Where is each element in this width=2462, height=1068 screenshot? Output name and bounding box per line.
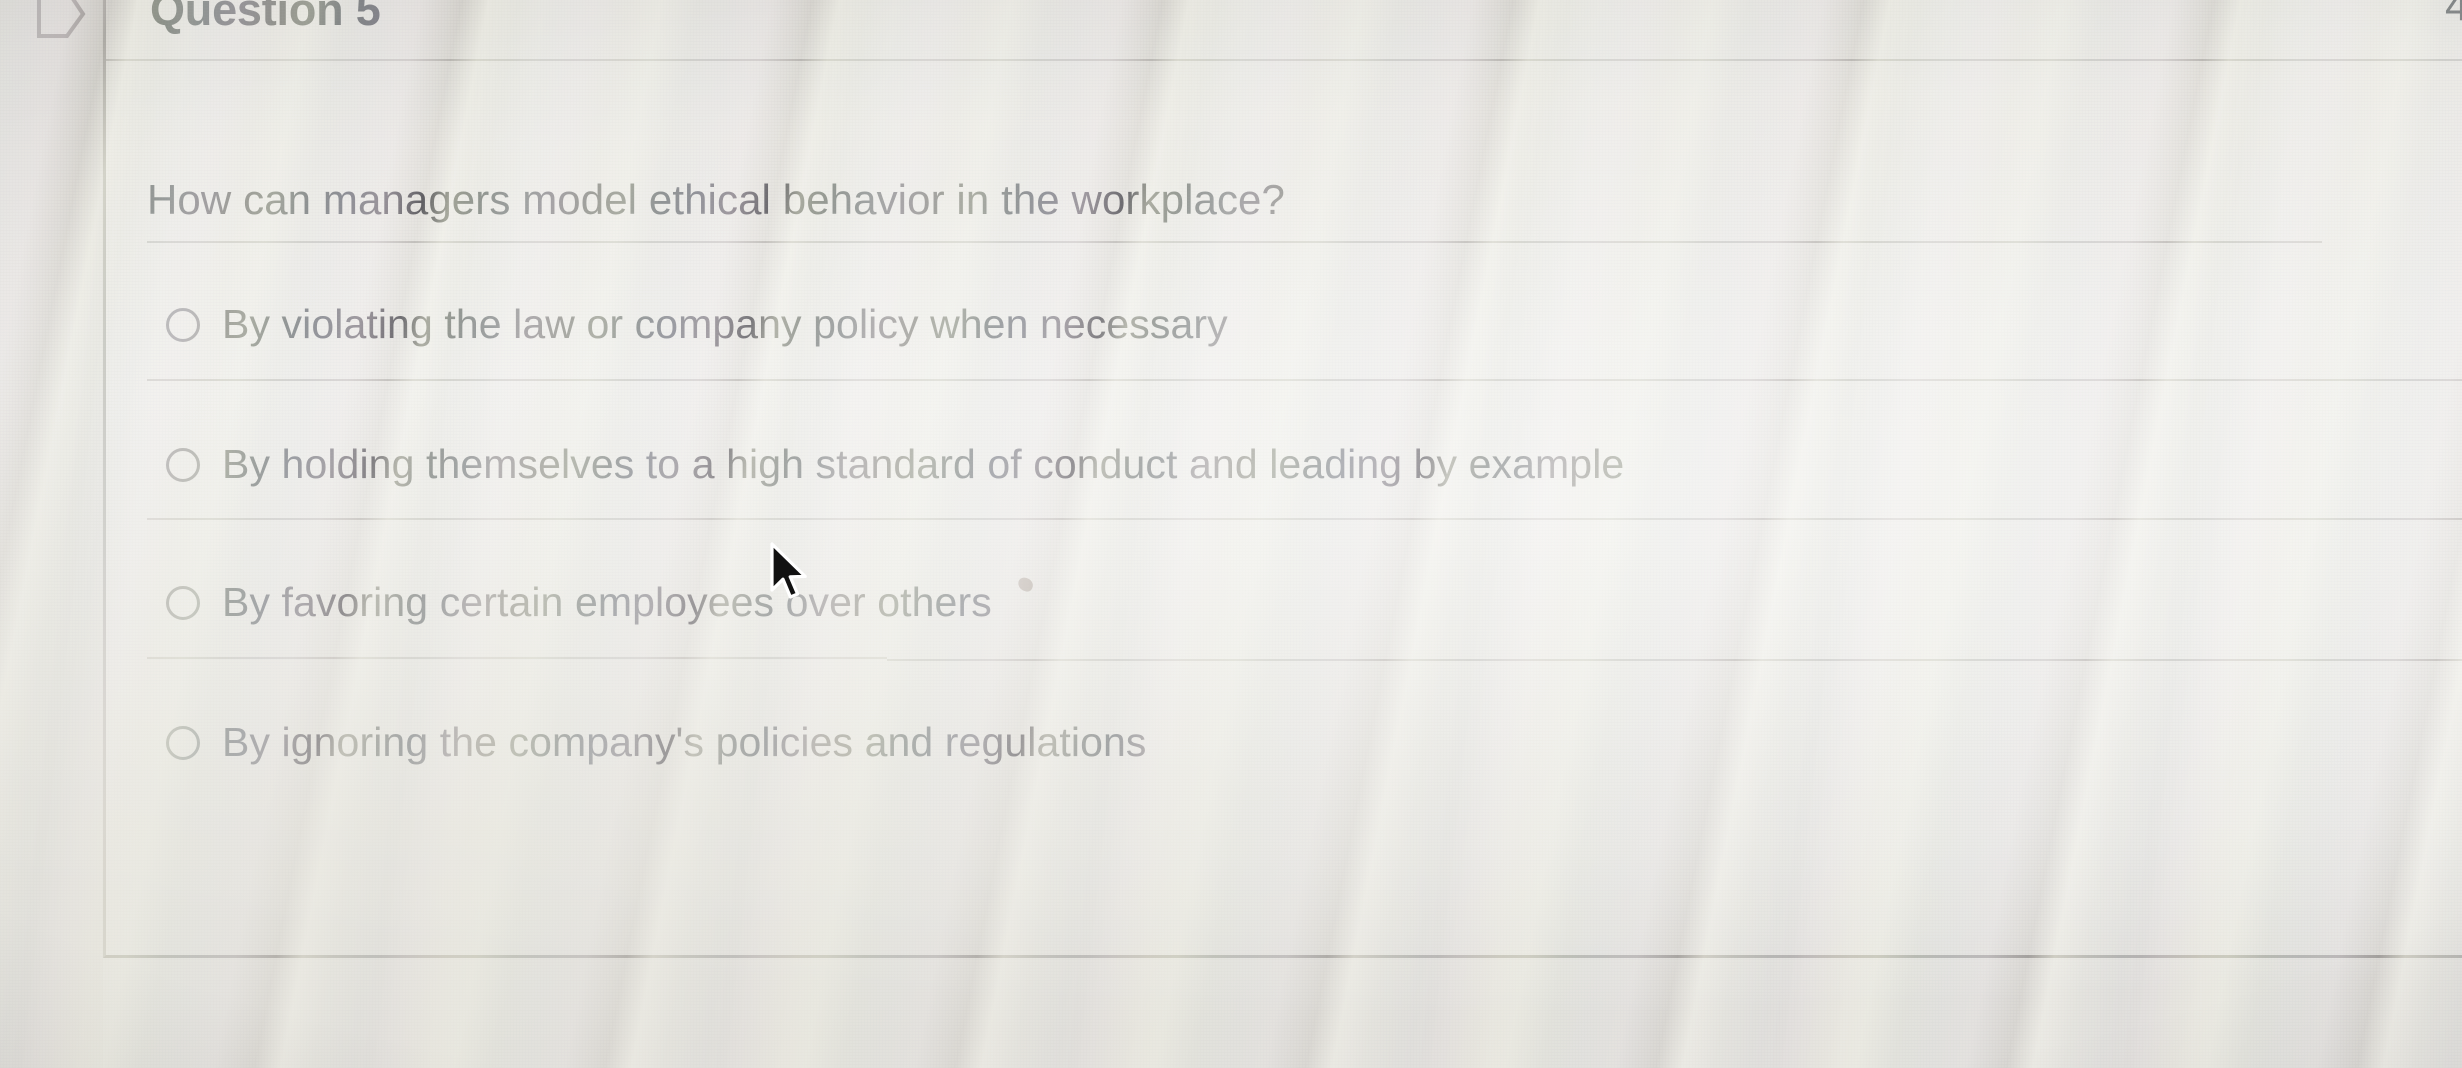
answer-option-3[interactable]: By favoring certain employees over other… bbox=[166, 579, 1029, 626]
answer-option-1[interactable]: By violating the law or company policy w… bbox=[166, 301, 1228, 348]
answer-label-3: By favoring certain employees over other… bbox=[222, 579, 992, 626]
question-points: 4 bbox=[2445, 0, 2462, 31]
answer-divider bbox=[147, 518, 2462, 520]
question-title: Question 5 bbox=[150, 0, 381, 36]
answer-label-4: By ignoring the company's policies and r… bbox=[222, 719, 1146, 766]
radio-button-4[interactable] bbox=[166, 726, 200, 760]
answer-divider bbox=[147, 657, 887, 659]
radio-button-2[interactable] bbox=[166, 448, 200, 482]
answer-divider bbox=[147, 379, 2462, 381]
radio-button-3[interactable] bbox=[166, 586, 200, 620]
question-prompt: How can managers model ethical behavior … bbox=[147, 176, 1285, 224]
answer-option-4[interactable]: By ignoring the company's policies and r… bbox=[166, 719, 1146, 766]
answer-label-1: By violating the law or company policy w… bbox=[222, 301, 1228, 348]
dust-speck bbox=[1016, 576, 1034, 593]
answer-label-2: By holding themselves to a high standard… bbox=[222, 441, 1624, 488]
answer-divider bbox=[147, 241, 2322, 243]
answer-divider bbox=[887, 659, 2462, 661]
screen-photo: Question 5 4 How can managers model ethi… bbox=[0, 0, 2462, 1068]
radio-button-1[interactable] bbox=[166, 308, 200, 342]
question-card: How can managers model ethical behavior … bbox=[103, 61, 2462, 958]
question-header: Question 5 4 bbox=[103, 0, 2462, 61]
bookmark-flag-icon[interactable] bbox=[33, 0, 89, 42]
answer-option-2[interactable]: By holding themselves to a high standard… bbox=[166, 441, 1624, 488]
